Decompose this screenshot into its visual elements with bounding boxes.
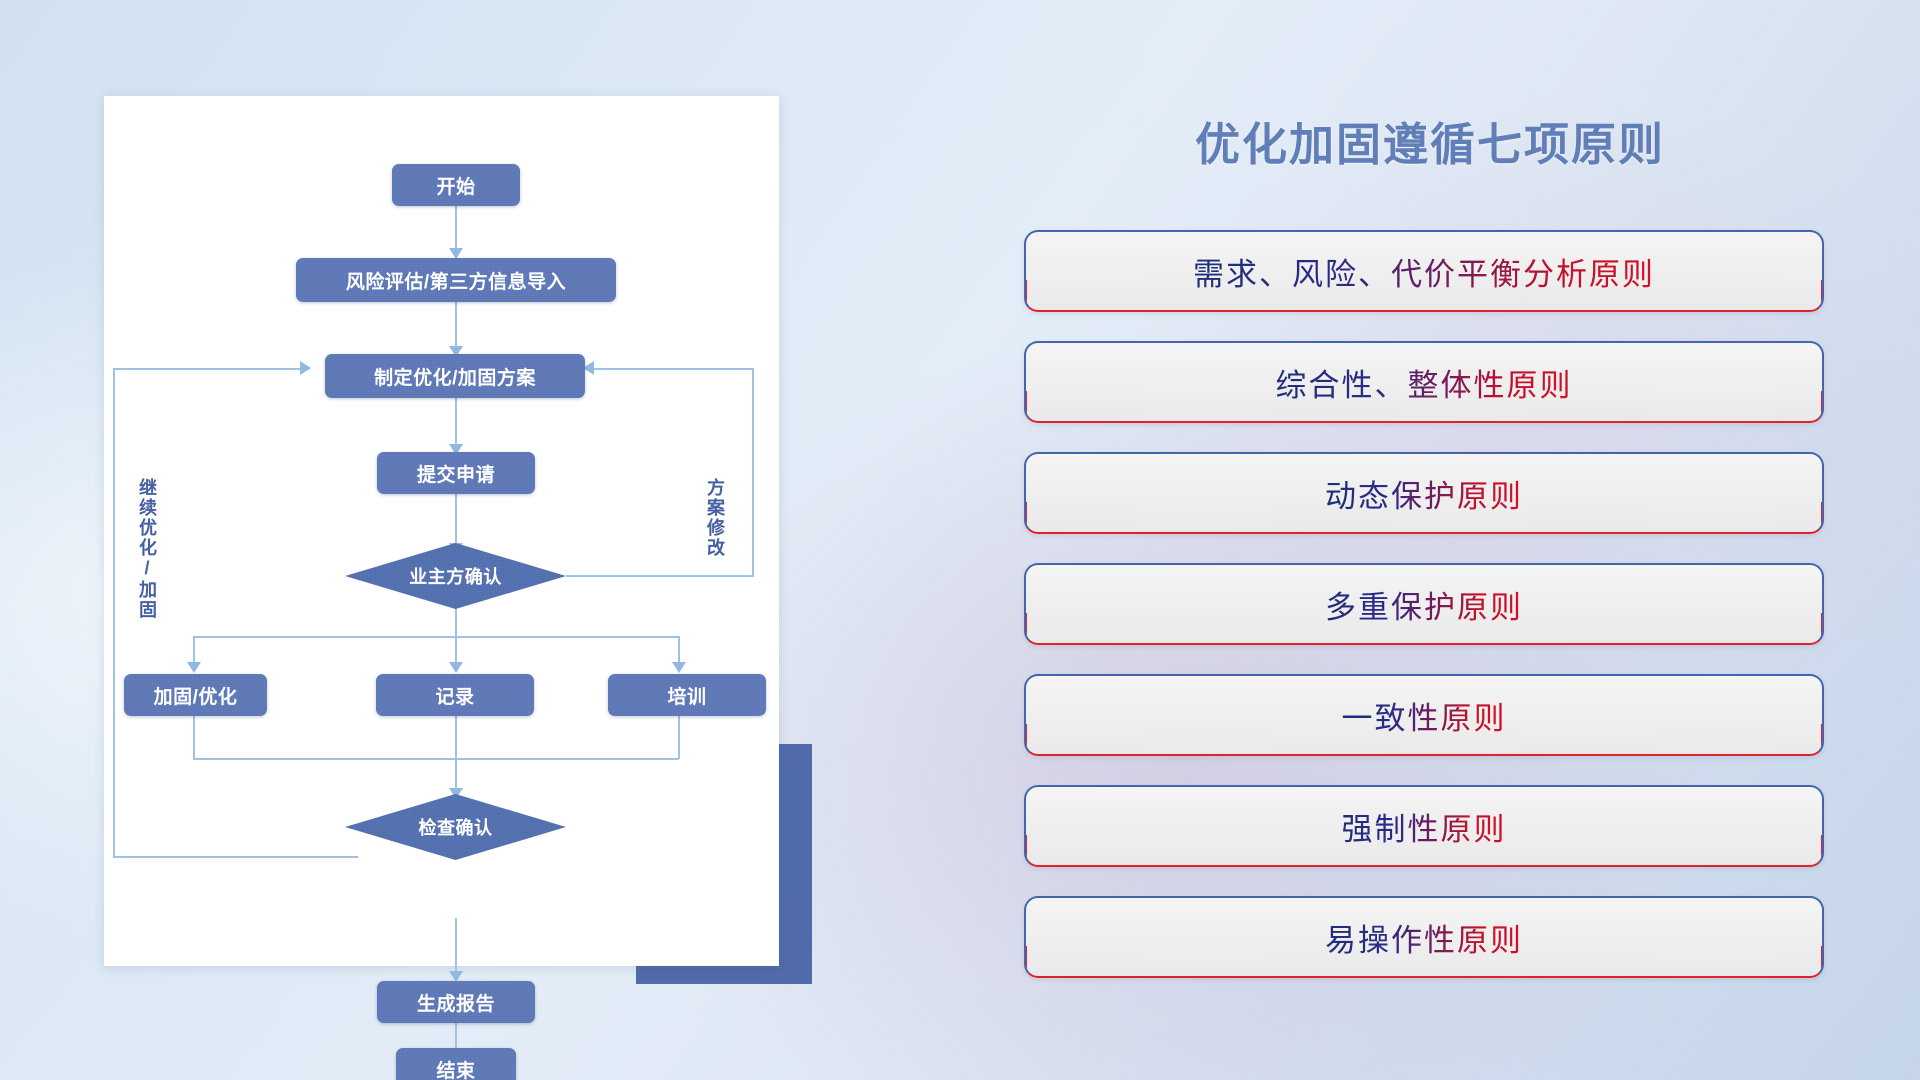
arrowhead-branch-right [672, 662, 686, 673]
connector-merge-bus [193, 758, 679, 760]
connector-owner-down [455, 607, 457, 637]
flow-node-training-label: 培训 [667, 682, 706, 709]
principle-card-6-label: 强制性原则 [1342, 804, 1507, 849]
edge-label-plan-revision: 方案修改 [702, 478, 728, 558]
flow-decision-owner-confirm-label: 业主方确认 [409, 563, 502, 589]
principles-list: 需求、风险、代价平衡分析原则 综合性、整体性原则 动态保护原则 多重保护原则 一… [1024, 230, 1824, 1007]
principle-card-2-label: 综合性、整体性原则 [1276, 360, 1573, 405]
flow-node-training[interactable]: 培训 [608, 674, 766, 716]
flow-node-risk-assessment-label: 风险评估/第三方信息导入 [346, 267, 566, 294]
flowchart-canvas: 开始 风险评估/第三方信息导入 制定优化/加固方案 提交申请 业主方确认 加固/… [104, 96, 779, 966]
edge-label-continue-optimize: 继续优化/加固 [134, 478, 160, 620]
flow-node-submit[interactable]: 提交申请 [377, 452, 535, 494]
arrowhead-branch-mid [449, 662, 463, 673]
flow-node-submit-label: 提交申请 [417, 460, 495, 487]
flow-decision-check-confirm-label: 检查确认 [419, 814, 493, 840]
flowchart-card: 开始 风险评估/第三方信息导入 制定优化/加固方案 提交申请 业主方确认 加固/… [104, 96, 779, 966]
flow-node-reinforcement-label: 加固/优化 [154, 682, 238, 709]
connector-training-down [678, 716, 680, 759]
slide-root: 开始 风险评估/第三方信息导入 制定优化/加固方案 提交申请 业主方确认 加固/… [0, 0, 1920, 1080]
connector-reinf-down [193, 716, 195, 759]
flow-node-end[interactable]: 结束 [396, 1048, 516, 1080]
arrowhead-branch-left [187, 662, 201, 673]
principle-card-1[interactable]: 需求、风险、代价平衡分析原则 [1024, 230, 1824, 312]
arrowhead-left-to-plan [300, 361, 311, 375]
flow-node-plan-label: 制定优化/加固方案 [374, 363, 536, 390]
principle-card-6[interactable]: 强制性原则 [1024, 785, 1824, 867]
flow-decision-check-confirm[interactable]: 检查确认 [345, 794, 566, 860]
flow-decision-owner-confirm[interactable]: 业主方确认 [345, 543, 566, 609]
flow-node-report-label: 生成报告 [417, 989, 495, 1016]
connector-branch-mid [455, 636, 457, 665]
principle-card-3[interactable]: 动态保护原则 [1024, 452, 1824, 534]
connector-check-report [455, 918, 457, 974]
connector-branch-bus [193, 636, 679, 638]
connector-plan-submit [455, 390, 457, 447]
connector-record-check [455, 716, 457, 792]
flow-node-record[interactable]: 记录 [376, 674, 534, 716]
connector-right-up [752, 368, 754, 577]
connector-left-up [113, 368, 115, 858]
connector-submit-owner [455, 488, 457, 546]
principle-card-5-label: 一致性原则 [1342, 693, 1507, 738]
principle-card-1-label: 需求、风险、代价平衡分析原则 [1193, 249, 1655, 294]
connector-branch-left [193, 636, 195, 665]
flow-node-report[interactable]: 生成报告 [377, 981, 535, 1023]
flow-node-record-label: 记录 [435, 682, 474, 709]
principles-panel-title: 优化加固遵循七项原则 [1030, 108, 1830, 173]
principle-card-4[interactable]: 多重保护原则 [1024, 563, 1824, 645]
connector-branch-right [678, 636, 680, 665]
connector-left-to-plan [113, 368, 309, 370]
principle-card-3-label: 动态保护原则 [1325, 471, 1523, 516]
connector-owner-right [566, 575, 754, 577]
principle-card-7-label: 易操作性原则 [1325, 915, 1523, 960]
flow-node-end-label: 结束 [436, 1056, 475, 1080]
principle-card-7[interactable]: 易操作性原则 [1024, 896, 1824, 978]
connector-right-to-plan [594, 368, 754, 370]
principle-card-4-label: 多重保护原则 [1325, 582, 1523, 627]
flow-node-start-label: 开始 [436, 172, 475, 199]
principle-card-2[interactable]: 综合性、整体性原则 [1024, 341, 1824, 423]
flow-node-risk-assessment[interactable]: 风险评估/第三方信息导入 [296, 258, 616, 302]
flow-node-start[interactable]: 开始 [392, 164, 520, 206]
principle-card-5[interactable]: 一致性原则 [1024, 674, 1824, 756]
flow-node-reinforcement[interactable]: 加固/优化 [124, 674, 267, 716]
flow-node-plan[interactable]: 制定优化/加固方案 [325, 354, 585, 398]
connector-check-left [113, 856, 358, 858]
